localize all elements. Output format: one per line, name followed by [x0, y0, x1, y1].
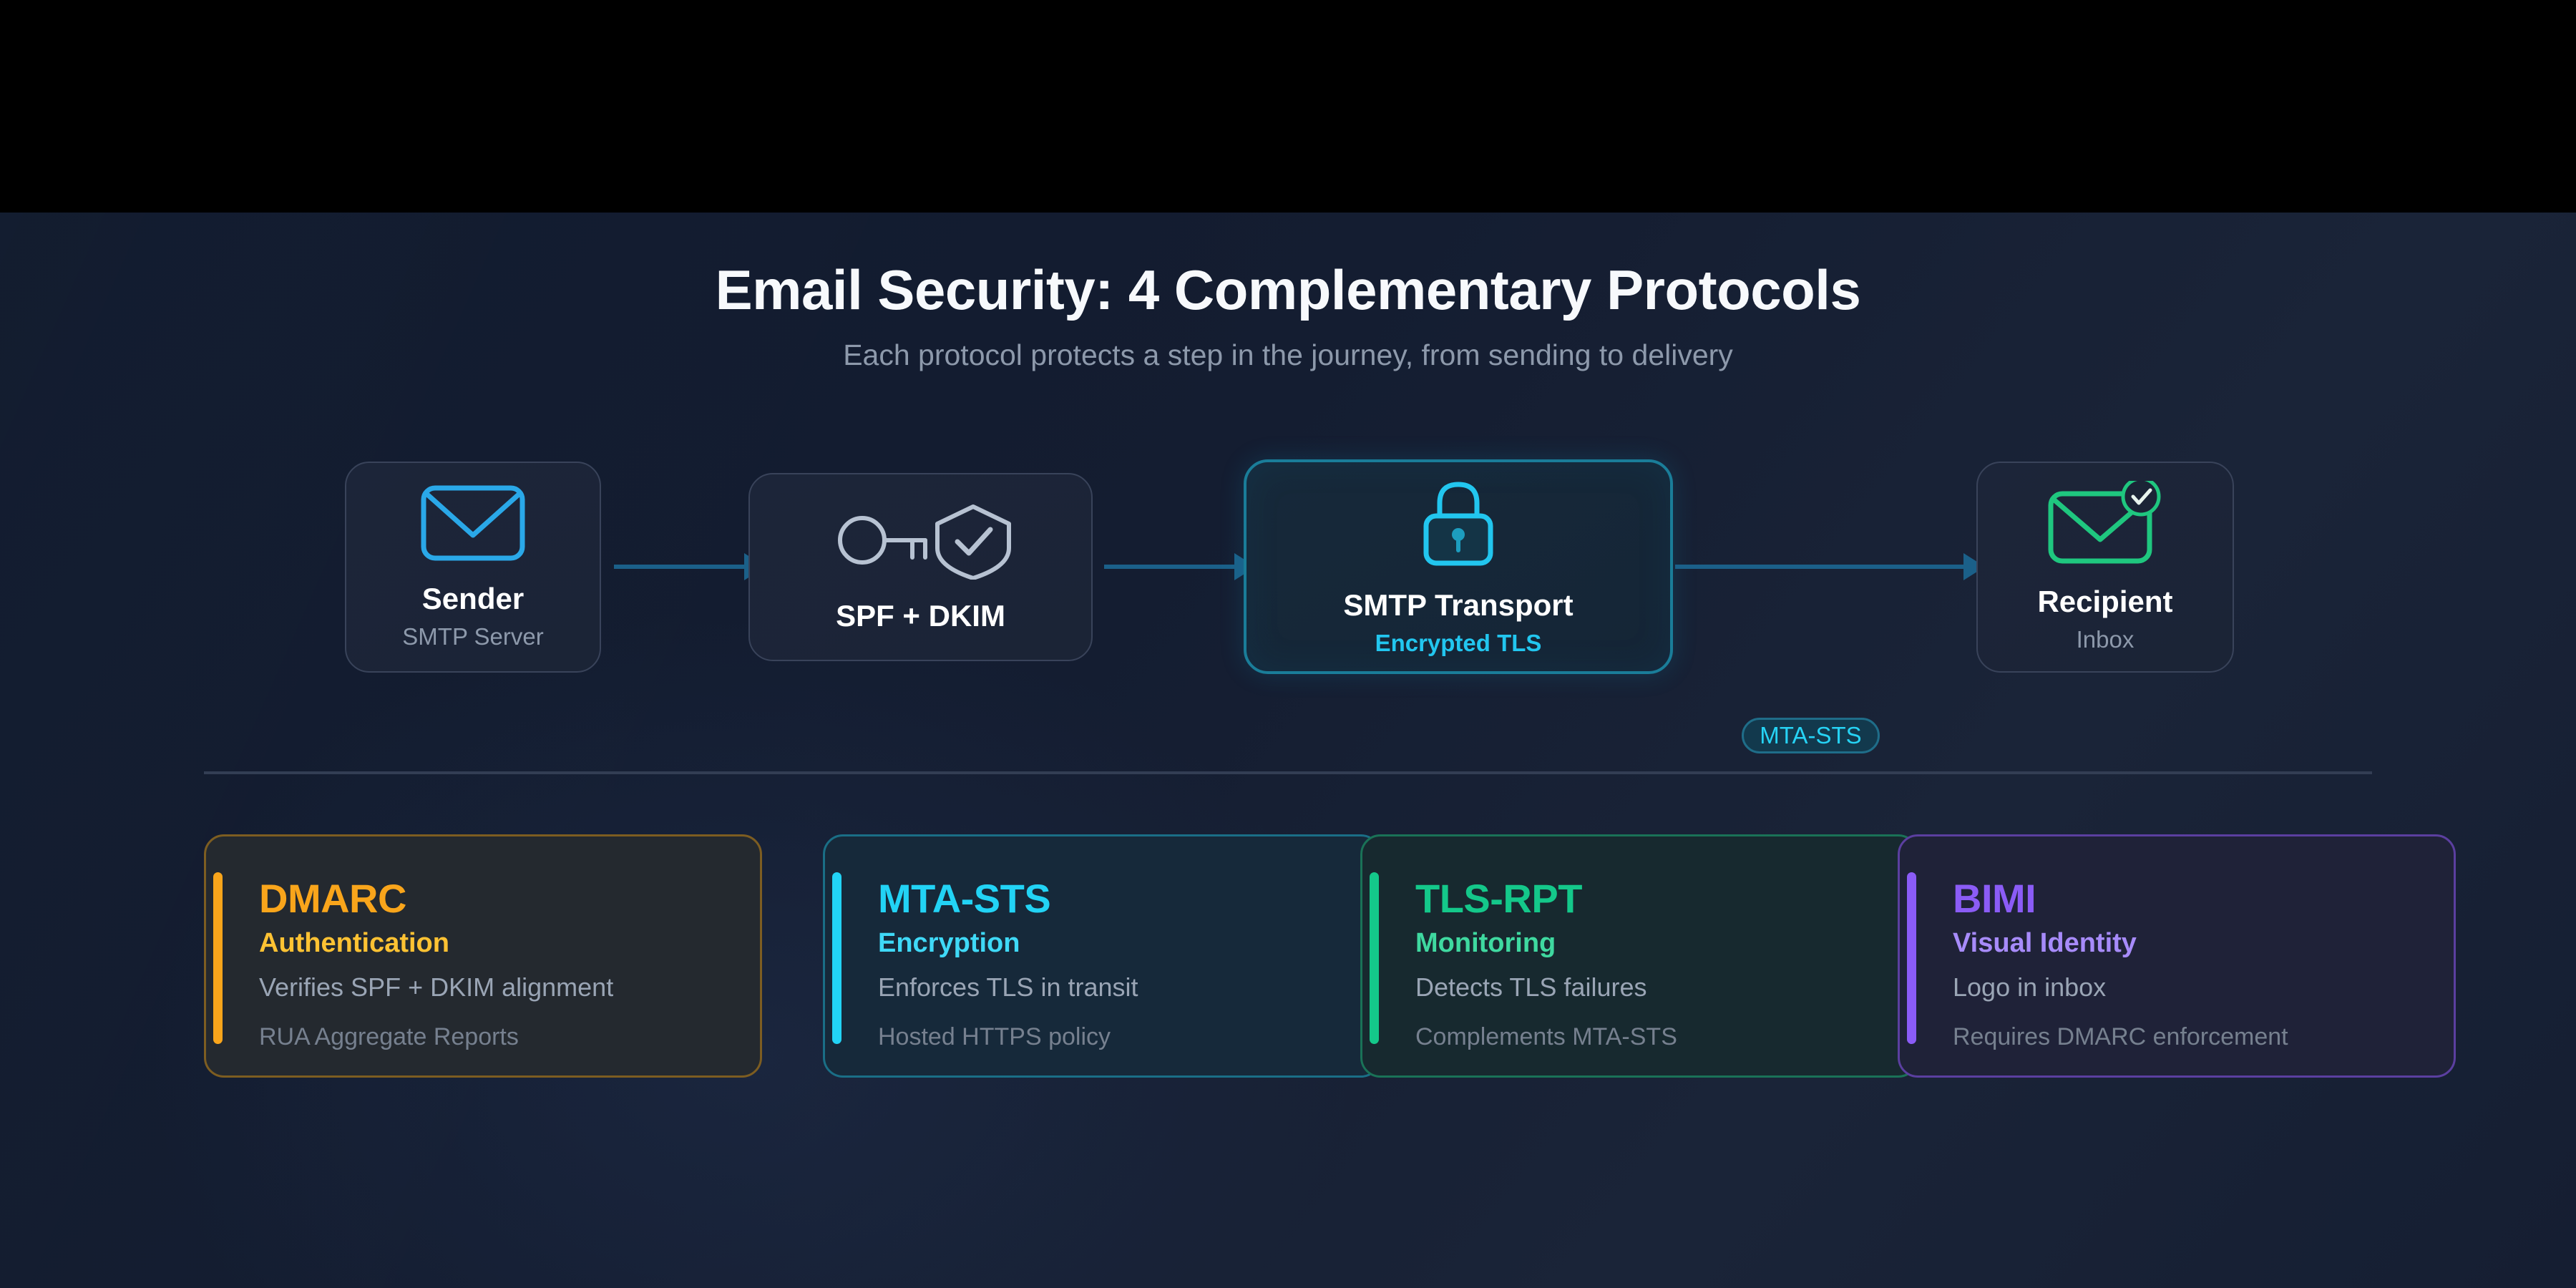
category-legend: Authentication Encryption Monitoring Ide… [0, 213, 2576, 1288]
letterbox-top-bar [0, 0, 2576, 213]
screenshot-root: Email Security: 4 Complementary Protocol… [0, 0, 2576, 1288]
infographic-stage: Email Security: 4 Complementary Protocol… [0, 213, 2576, 1288]
